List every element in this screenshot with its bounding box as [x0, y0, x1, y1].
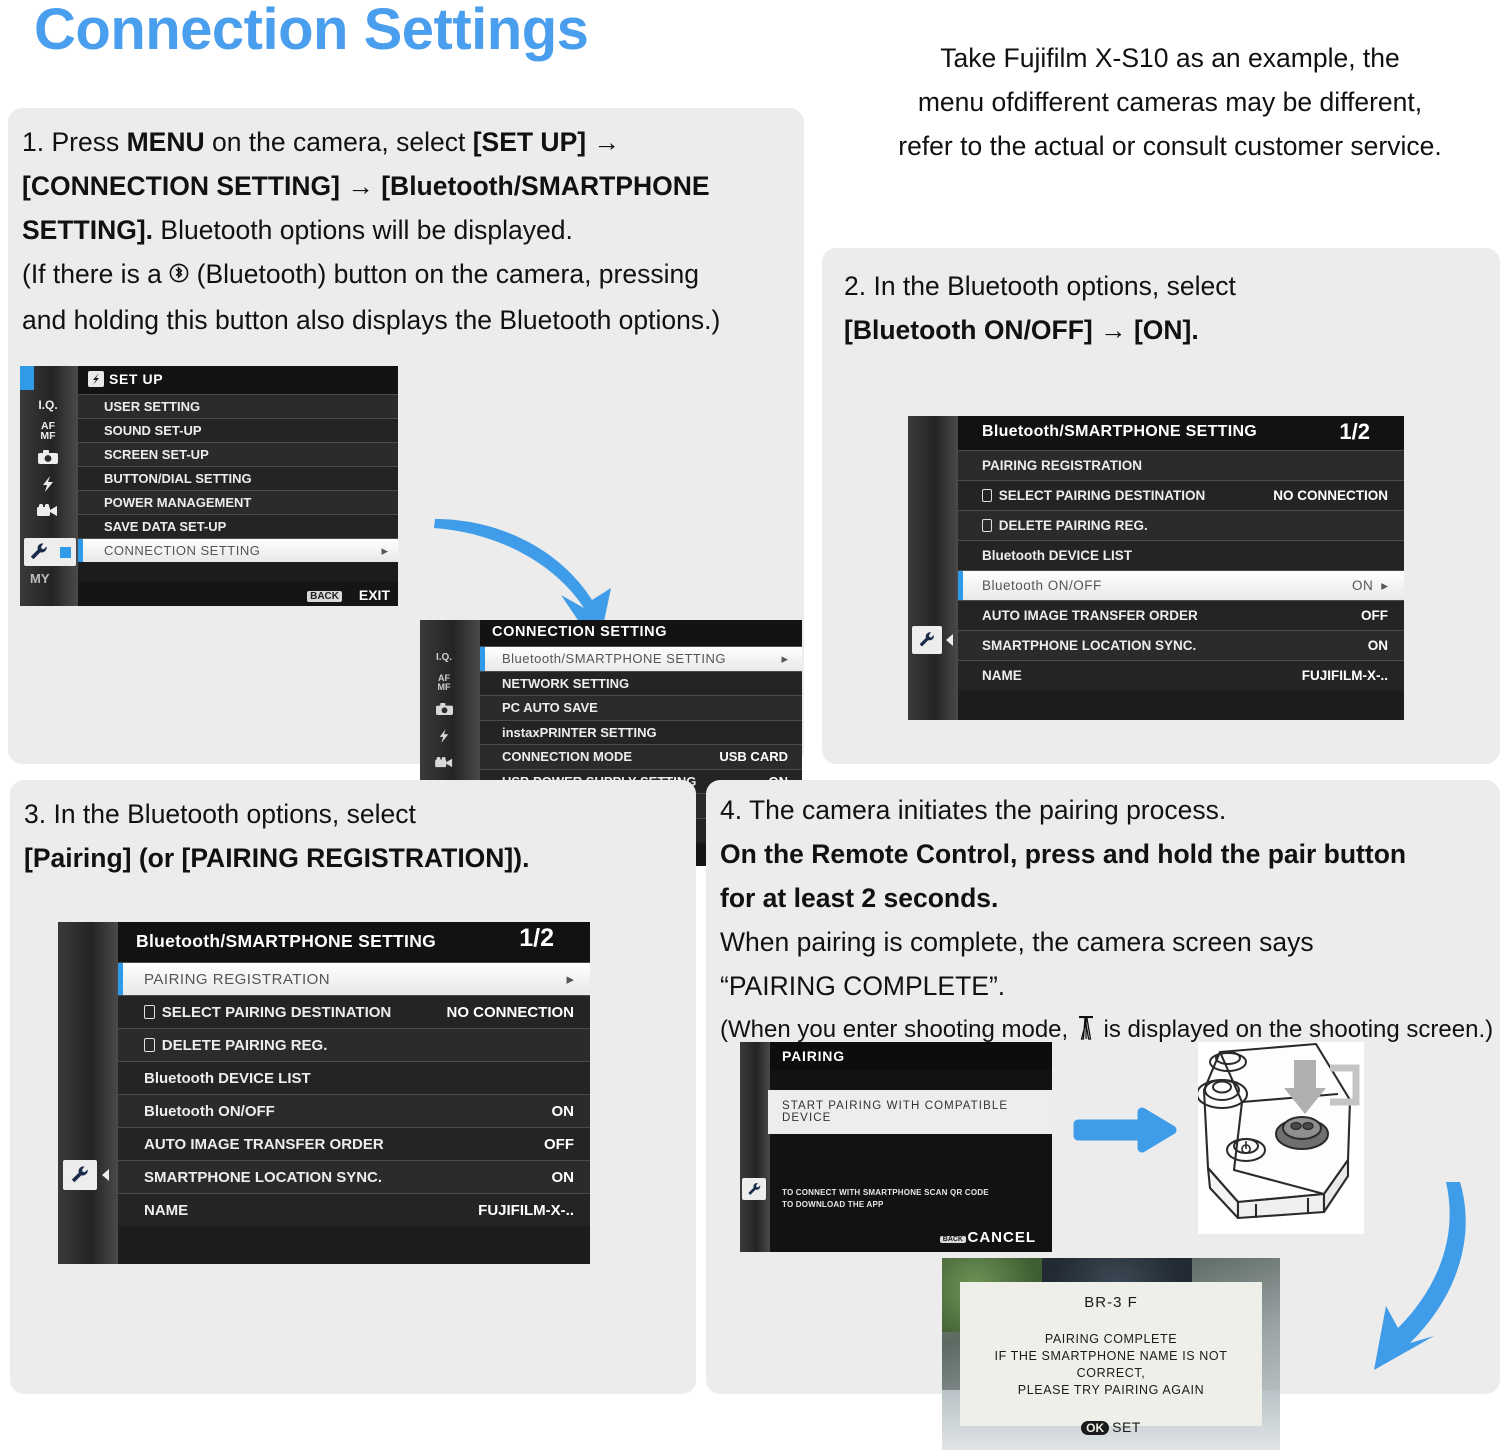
step-1-text-c: on the camera, select: [205, 127, 473, 157]
menu-row-label: PAIRING REGISTRATION: [144, 971, 330, 988]
menu-row-label: SCREEN SET-UP: [104, 447, 209, 462]
menu-row[interactable]: NAMEFUJIFILM-X-..: [118, 1193, 590, 1226]
menu-row-label: PAIRING REGISTRATION: [982, 458, 1142, 473]
step-1-line-5: and holding this button also displays th…: [22, 298, 792, 342]
menu-row-label: USER SETTING: [104, 399, 200, 414]
menu-row-label: Bluetooth ON/OFF: [982, 578, 1102, 593]
bt2-sidebar-setup-tab[interactable]: [912, 626, 942, 654]
bluetooth-icon: [169, 254, 189, 298]
step-4-text-displayed: is displayed on the shooting screen.): [1097, 1016, 1493, 1043]
sidebar-item-afmf-2[interactable]: AFMF: [438, 674, 451, 692]
menu-row-label: AUTO IMAGE TRANSFER ORDER: [144, 1136, 384, 1153]
step-1-line-4: (If there is a (Bluetooth) button on the…: [22, 252, 792, 298]
selection-indicator: [958, 571, 963, 600]
wrench-icon-4: [70, 1165, 90, 1185]
movie-icon[interactable]: [37, 504, 59, 520]
menu-row[interactable]: instaxPRINTER SETTING: [480, 720, 802, 745]
step-2-line-2: [Bluetooth ON/OFF] → [ON].: [844, 308, 1484, 352]
step-3-line-2: [Pairing] (or [PAIRING REGISTRATION]).: [24, 836, 684, 880]
phone-icon: [982, 519, 992, 532]
menu-row-label: Bluetooth DEVICE LIST: [144, 1070, 311, 1087]
step-1-panel: 1. Press MENU on the camera, select [SET…: [8, 108, 804, 764]
menu-row[interactable]: NETWORK SETTING: [480, 671, 802, 696]
step-1-text-e: →: [586, 127, 620, 157]
menu-row[interactable]: POWER MANAGEMENT: [78, 490, 398, 514]
bt-setting-title-step3: Bluetooth/SMARTPHONE SETTING: [136, 931, 436, 952]
menu-row-value: ON: [552, 1169, 575, 1186]
ok-chip[interactable]: OK: [1081, 1421, 1109, 1435]
step-3-line-1: 3. In the Bluetooth options, select: [24, 792, 684, 836]
menu-row-label: Bluetooth ON/OFF: [144, 1103, 275, 1120]
menu-row-label: NAME: [144, 1202, 188, 1219]
step-4-line-4: When pairing is complete, the camera scr…: [720, 920, 1498, 964]
menu-row-value: NO CONNECTION: [447, 1004, 575, 1021]
menu-row-label: Bluetooth/SMARTPHONE SETTING: [502, 651, 726, 666]
sidebar-item-afmf[interactable]: AFMF: [40, 421, 55, 441]
pairing-screen: PAIRING START PAIRING WITH COMPATIBLE DE…: [740, 1042, 1052, 1252]
pairing-title: PAIRING: [782, 1048, 845, 1064]
pairing-sidebar-setup-tab[interactable]: [742, 1178, 766, 1200]
pairing-complete-card: BR-3 F PAIRING COMPLETE IF THE SMARTPHON…: [960, 1282, 1262, 1426]
straight-blue-arrow-icon: [1072, 1100, 1182, 1160]
menu-row[interactable]: Bluetooth ON/OFFON▸: [958, 570, 1404, 600]
menu-row-label: SOUND SET-UP: [104, 423, 202, 438]
camera-icon-2[interactable]: [436, 703, 453, 718]
menu-row[interactable]: USER SETTING: [78, 394, 398, 418]
menu-row[interactable]: DELETE PAIRING REG.: [958, 510, 1404, 540]
wrench-spark-icon: [88, 371, 104, 387]
exit-label[interactable]: EXIT: [359, 587, 390, 603]
step-1-text-setting: SETTING].: [22, 215, 153, 245]
camera-icon[interactable]: [38, 450, 58, 467]
page-indicator-step2: 1/2: [1339, 419, 1370, 445]
menu-row-value: ON: [552, 1103, 575, 1120]
selection-indicator: [78, 539, 83, 562]
sidebar-blue-square: [60, 547, 71, 558]
pairing-cancel-label[interactable]: CANCEL: [968, 1229, 1037, 1246]
selection-indicator: [480, 647, 485, 671]
menu-row[interactable]: Bluetooth DEVICE LIST: [958, 540, 1404, 570]
menu-row[interactable]: CONNECTION MODEUSB CARD: [480, 744, 802, 769]
sidebar-item-setup-selected[interactable]: [24, 538, 76, 566]
phone-icon: [144, 1005, 155, 1019]
page-indicator-step3: 1/2: [519, 924, 554, 953]
flash-icon-2[interactable]: [438, 729, 450, 746]
menu-row[interactable]: PAIRING REGISTRATION: [958, 450, 1404, 480]
step-1-text-btsmart: [Bluetooth/SMARTPHONE: [381, 171, 709, 201]
bt-setting-screen-step2: Bluetooth/SMARTPHONE SETTING 1/2 PAIRING…: [908, 416, 1404, 720]
sidebar-item-my[interactable]: MY: [30, 571, 50, 586]
menu-row[interactable]: SOUND SET-UP: [78, 418, 398, 442]
menu-row[interactable]: SMARTPHONE LOCATION SYNC.ON: [118, 1160, 590, 1193]
menu-row[interactable]: DELETE PAIRING REG.: [118, 1028, 590, 1061]
menu-row-label: DELETE PAIRING REG.: [999, 518, 1148, 533]
phone-icon: [144, 1038, 155, 1052]
menu-row-label: BUTTON/DIAL SETTING: [104, 471, 252, 486]
phone-icon: [982, 489, 992, 502]
menu-row-value: OFF: [544, 1136, 574, 1153]
pairing-complete-line-1: PAIRING COMPLETE: [960, 1331, 1262, 1348]
remote-control-illustration: [1198, 1042, 1364, 1234]
menu-row-value: FUJIFILM-X-..: [1302, 668, 1388, 683]
pairing-complete-header: BR-3 F: [960, 1294, 1262, 1311]
menu-row-label: NAME: [982, 668, 1022, 683]
menu-row-label: SAVE DATA SET-UP: [104, 519, 226, 534]
menu-row-value: USB CARD: [719, 749, 788, 764]
step-4-panel: 4. The camera initiates the pairing proc…: [706, 780, 1500, 1394]
menu-row-label: AUTO IMAGE TRANSFER ORDER: [982, 608, 1198, 623]
setup-sidebar: I.Q. AFMF: [26, 398, 70, 520]
pairing-banner: START PAIRING WITH COMPATIBLE DEVICE: [768, 1090, 1052, 1134]
step-4-line-1: 4. The camera initiates the pairing proc…: [720, 788, 1498, 832]
menu-row-value: FUJIFILM-X-..: [478, 1202, 574, 1219]
bt2-sidebar-caret-icon: [946, 634, 953, 646]
step-4-line-2: On the Remote Control, press and hold th…: [720, 832, 1498, 876]
pairing-hint-1: TO CONNECT WITH SMARTPHONE SCAN QR CODE: [782, 1188, 989, 1197]
step-1-text-if: (If there is a: [22, 259, 169, 289]
chevron-right-icon[interactable]: ▸: [566, 970, 574, 988]
menu-row-label: POWER MANAGEMENT: [104, 495, 251, 510]
menu-row[interactable]: PAIRING REGISTRATION▸: [118, 962, 590, 995]
chevron-right-icon[interactable]: ▸: [1381, 578, 1388, 594]
menu-row-label: SMARTPHONE LOCATION SYNC.: [144, 1169, 382, 1186]
intro-line-2: menu ofdifferent cameras may be differen…: [840, 80, 1500, 124]
menu-row-label: PC AUTO SAVE: [502, 700, 598, 715]
set-label: SET: [1112, 1419, 1141, 1435]
pairing-complete-photo: BR-3 F PAIRING COMPLETE IF THE SMARTPHON…: [942, 1258, 1280, 1450]
menu-row[interactable]: SCREEN SET-UP: [78, 442, 398, 466]
pairing-hint-2: TO DOWNLOAD THE APP: [782, 1200, 884, 1209]
menu-row[interactable]: SMARTPHONE LOCATION SYNC.ON: [958, 630, 1404, 660]
flash-icon[interactable]: [41, 476, 55, 495]
step-1-text-pressing: (Bluetooth) button on the camera, pressi…: [189, 259, 699, 289]
connection-setting-title: CONNECTION SETTING: [492, 624, 667, 640]
menu-row[interactable]: BUTTON/DIAL SETTING: [78, 466, 398, 490]
lcd-blue-marker: [20, 366, 34, 390]
menu-row-label: NETWORK SETTING: [502, 676, 629, 691]
movie-icon-2[interactable]: [435, 757, 454, 771]
pairing-back-chip[interactable]: BACK: [940, 1236, 966, 1243]
intro-line-1: Take Fujifilm X-S10 as an example, the: [840, 36, 1500, 80]
step-1-text-menu: MENU: [127, 127, 205, 157]
step-3-panel: 3. In the Bluetooth options, select [Pai…: [10, 780, 696, 1394]
bt3-sidebar-caret-icon: [102, 1169, 109, 1181]
wrench-icon-5: [747, 1182, 762, 1197]
menu-row-label: SMARTPHONE LOCATION SYNC.: [982, 638, 1196, 653]
setup-menu-title: SET UP: [109, 371, 163, 387]
step-2-panel: 2. In the Bluetooth options, select [Blu…: [822, 248, 1500, 764]
menu-row[interactable]: Bluetooth DEVICE LIST: [118, 1061, 590, 1094]
menu-row[interactable]: PC AUTO SAVE: [480, 695, 802, 720]
menu-row[interactable]: AUTO IMAGE TRANSFER ORDEROFF: [118, 1127, 590, 1160]
wrench-icon-3: [918, 631, 936, 649]
menu-row[interactable]: SAVE DATA SET-UP: [78, 514, 398, 538]
menu-row[interactable]: SELECT PAIRING DESTINATIONNO CONNECTION: [958, 480, 1404, 510]
menu-row-value: ON: [1368, 638, 1388, 653]
menu-row-label: SELECT PAIRING DESTINATION: [999, 488, 1206, 503]
menu-row-label: Bluetooth DEVICE LIST: [982, 548, 1132, 563]
menu-row-label: CONNECTION SETTING: [104, 543, 260, 558]
step-1-line-1: 1. Press MENU on the camera, select [SET…: [22, 120, 792, 164]
bt3-sidebar-setup-tab[interactable]: [63, 1160, 97, 1190]
lcd-left-rail-4: [58, 922, 118, 1264]
lcd-left-rail-3: [908, 416, 958, 720]
setup-menu-screen: SET UP I.Q. AFMF MY: [20, 366, 398, 606]
selection-indicator: [118, 963, 123, 995]
page-title: Connection Settings: [34, 0, 588, 63]
step-4-line-5: “PAIRING COMPLETE”.: [720, 964, 1498, 1008]
step-1-line-3: SETTING]. Bluetooth options will be disp…: [22, 208, 792, 252]
step-2-line-1: 2. In the Bluetooth options, select: [844, 264, 1484, 308]
tripod-icon: [1075, 1012, 1097, 1056]
pairing-complete-line-3: PLEASE TRY PAIRING AGAIN: [960, 1382, 1262, 1399]
step-1-text-setup: [SET UP]: [473, 127, 586, 157]
sidebar-item-iq[interactable]: I.Q.: [38, 398, 57, 412]
sidebar-item-iq-2[interactable]: I.Q.: [436, 652, 452, 663]
step-1-text-arrow2: →: [340, 171, 381, 201]
lcd-left-rail-5: [740, 1042, 770, 1252]
pairing-complete-line-2: IF THE SMARTPHONE NAME IS NOT CORRECT,: [960, 1348, 1262, 1382]
step-1-text-displayed: Bluetooth options will be displayed.: [153, 215, 573, 245]
step-4-text-when: (When you enter shooting mode,: [720, 1016, 1075, 1043]
wrench-icon: [29, 542, 49, 562]
chevron-right-icon[interactable]: ▸: [381, 543, 388, 559]
step-4-line-3: for at least 2 seconds.: [720, 876, 1498, 920]
bt-setting-screen-step3: Bluetooth/SMARTPHONE SETTING 1/2 PAIRING…: [58, 922, 590, 1264]
menu-row-value: NO CONNECTION: [1273, 488, 1388, 503]
menu-row[interactable]: Bluetooth ON/OFFON: [118, 1094, 590, 1127]
intro-note: Take Fujifilm X-S10 as an example, the m…: [840, 36, 1500, 168]
curved-blue-arrow-down-icon: [1342, 1178, 1500, 1383]
menu-row[interactable]: AUTO IMAGE TRANSFER ORDEROFF: [958, 600, 1404, 630]
menu-row[interactable]: NAMEFUJIFILM-X-..: [958, 660, 1404, 690]
intro-line-3: refer to the actual or consult customer …: [840, 124, 1500, 168]
step-1-line-2: [CONNECTION SETTING] → [Bluetooth/SMARTP…: [22, 164, 792, 208]
back-chip[interactable]: BACK: [307, 591, 342, 602]
menu-row-label: SELECT PAIRING DESTINATION: [162, 1004, 391, 1021]
menu-row[interactable]: Bluetooth/SMARTPHONE SETTING▸: [480, 646, 802, 671]
menu-row-value: OFF: [1361, 608, 1388, 623]
bt-setting-title-step2: Bluetooth/SMARTPHONE SETTING: [982, 423, 1257, 441]
chevron-right-icon[interactable]: ▸: [781, 651, 788, 667]
menu-row-label: instaxPRINTER SETTING: [502, 725, 657, 740]
setup-footer-bar: [78, 582, 398, 606]
step-1-text-connection: [CONNECTION SETTING]: [22, 171, 340, 201]
menu-row-label: DELETE PAIRING REG.: [162, 1037, 328, 1054]
step-1-text-a: 1. Press: [22, 127, 127, 157]
menu-row[interactable]: CONNECTION SETTING▸: [78, 538, 398, 562]
menu-row-value: ON: [1352, 578, 1373, 593]
press-and-hold-pair-button-icon: [1198, 1042, 1364, 1234]
pairing-complete-set-row: OKSET: [960, 1419, 1262, 1435]
menu-row-label: CONNECTION MODE: [502, 749, 632, 764]
connection-sidebar: I.Q. AFMF: [424, 652, 464, 771]
menu-row[interactable]: SELECT PAIRING DESTINATIONNO CONNECTION: [118, 995, 590, 1028]
